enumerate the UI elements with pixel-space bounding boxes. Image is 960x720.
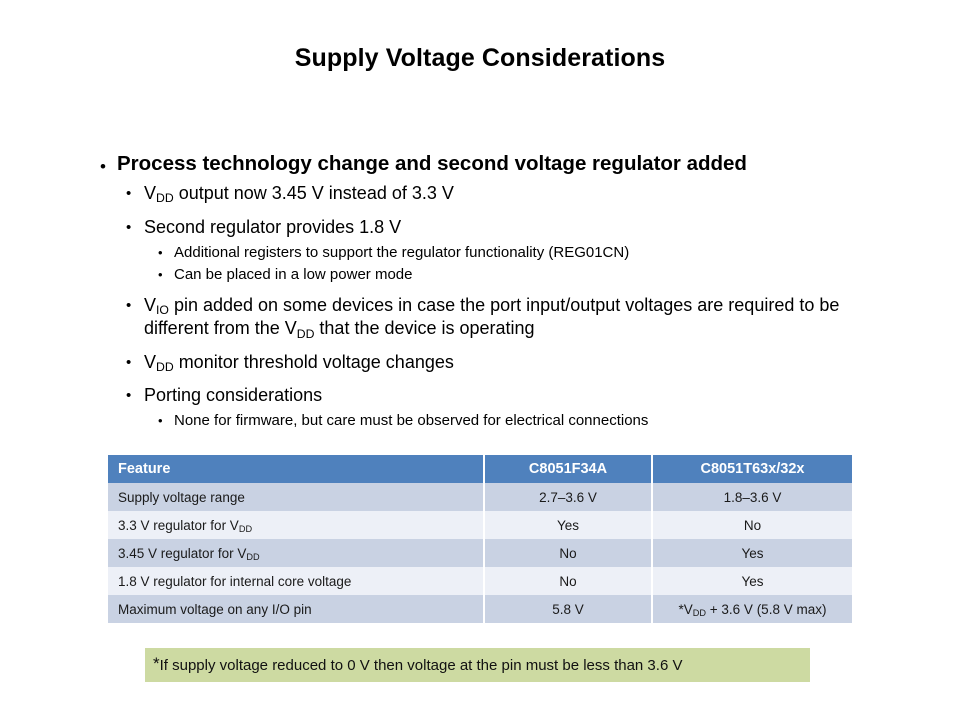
- bullet-dot-icon: •: [158, 265, 174, 281]
- bullet-dot-icon: •: [158, 243, 174, 259]
- table-row: 3.3 V regulator for VDD Yes No: [108, 511, 852, 539]
- footnote-text: If supply voltage reduced to 0 V then vo…: [160, 657, 683, 674]
- cell-f34a: 2.7–3.6 V: [484, 483, 652, 511]
- cell-feature: 1.8 V regulator for internal core voltag…: [108, 567, 484, 595]
- cell-feature: Supply voltage range: [108, 483, 484, 511]
- cell-feature: Maximum voltage on any I/O pin: [108, 595, 484, 623]
- table-row: Maximum voltage on any I/O pin 5.8 V *VD…: [108, 595, 852, 623]
- cell-f34a: 5.8 V: [484, 595, 652, 623]
- bullet-vdd-monitor: • VDD monitor threshold voltage changes: [126, 351, 900, 374]
- bullet-none-for-firmware: • None for firmware, but care must be ob…: [158, 411, 900, 431]
- cell-t63x: *VDD + 3.6 V (5.8 V max): [652, 595, 852, 623]
- cell-t63x-suffix: + 3.6 V (5.8 V max): [706, 602, 826, 617]
- bullet-low-power-mode-text: Can be placed in a low power mode: [174, 265, 900, 285]
- vdd-subscript: DD: [239, 524, 252, 534]
- bullet-porting-considerations-text: Porting considerations: [144, 384, 900, 407]
- footnote-asterisk: *: [153, 655, 160, 672]
- bullet-porting-considerations: • Porting considerations: [126, 384, 900, 407]
- table-header-row: Feature C8051F34A C8051T63x/32x: [108, 455, 852, 483]
- cell-t63x: Yes: [652, 567, 852, 595]
- vdd-prefix: V: [144, 352, 156, 372]
- bullet-vio-pin: • VIO pin added on some devices in case …: [126, 294, 900, 341]
- comparison-table: Feature C8051F34A C8051T63x/32x Supply v…: [108, 455, 852, 623]
- cell-f34a: No: [484, 567, 652, 595]
- cell-t63x: No: [652, 511, 852, 539]
- cell-feature-text: 3.45 V regulator for V: [118, 546, 246, 561]
- bullet-none-for-firmware-text: None for firmware, but care must be obse…: [174, 411, 900, 431]
- cell-f34a: No: [484, 539, 652, 567]
- cell-feature: 3.45 V regulator for VDD: [108, 539, 484, 567]
- table-header-t63x: C8051T63x/32x: [652, 455, 852, 483]
- bullet-content-region: • Process technology change and second v…: [100, 152, 900, 433]
- bullet-vdd-monitor-text: VDD monitor threshold voltage changes: [144, 351, 900, 374]
- bullet-dot-icon: •: [126, 182, 144, 201]
- vdd-subscript: DD: [156, 191, 174, 205]
- table-row: Supply voltage range 2.7–3.6 V 1.8–3.6 V: [108, 483, 852, 511]
- bullet-second-regulator: • Second regulator provides 1.8 V: [126, 216, 900, 239]
- vdd-subscript: DD: [693, 608, 706, 618]
- vdd-suffix: output now 3.45 V instead of 3.3 V: [174, 183, 454, 203]
- bullet-dot-icon: •: [158, 411, 174, 427]
- vio-suffix: that the device is operating: [314, 318, 534, 338]
- cell-t63x-prefix: *V: [679, 602, 693, 617]
- bullet-additional-registers-text: Additional registers to support the regu…: [174, 243, 900, 263]
- table-row: 3.45 V regulator for VDD No Yes: [108, 539, 852, 567]
- vdd-monitor-suffix: monitor threshold voltage changes: [174, 352, 454, 372]
- bullet-dot-icon: •: [126, 384, 144, 403]
- bullet-vdd-output-text: VDD output now 3.45 V instead of 3.3 V: [144, 182, 900, 205]
- vdd-subscript: DD: [297, 327, 315, 341]
- table-header-f34a: C8051F34A: [484, 455, 652, 483]
- cell-t63x: 1.8–3.6 V: [652, 483, 852, 511]
- vdd-prefix: V: [144, 183, 156, 203]
- bullet-dot-icon: •: [126, 351, 144, 370]
- table-header-feature: Feature: [108, 455, 484, 483]
- vdd-subscript: DD: [246, 552, 259, 562]
- footnote-box: *If supply voltage reduced to 0 V then v…: [145, 648, 810, 682]
- page-title: Supply Voltage Considerations: [0, 44, 960, 73]
- bullet-dot-icon: •: [126, 216, 144, 235]
- bullet-additional-registers: • Additional registers to support the re…: [158, 243, 900, 263]
- vio-prefix: V: [144, 295, 156, 315]
- bullet-dot-icon: •: [100, 152, 117, 175]
- bullet-dot-icon: •: [126, 294, 144, 313]
- bullet-vdd-output: • VDD output now 3.45 V instead of 3.3 V: [126, 182, 900, 205]
- table-row: 1.8 V regulator for internal core voltag…: [108, 567, 852, 595]
- vio-subscript: IO: [156, 303, 169, 317]
- bullet-level1-text: Process technology change and second vol…: [117, 152, 900, 176]
- bullet-level1: • Process technology change and second v…: [100, 152, 900, 176]
- cell-t63x: Yes: [652, 539, 852, 567]
- cell-feature: 3.3 V regulator for VDD: [108, 511, 484, 539]
- bullet-vio-pin-text: VIO pin added on some devices in case th…: [144, 294, 900, 341]
- bullet-second-regulator-text: Second regulator provides 1.8 V: [144, 216, 900, 239]
- cell-f34a: Yes: [484, 511, 652, 539]
- cell-feature-text: 3.3 V regulator for V: [118, 518, 239, 533]
- bullet-low-power-mode: • Can be placed in a low power mode: [158, 265, 900, 285]
- vdd-subscript: DD: [156, 360, 174, 374]
